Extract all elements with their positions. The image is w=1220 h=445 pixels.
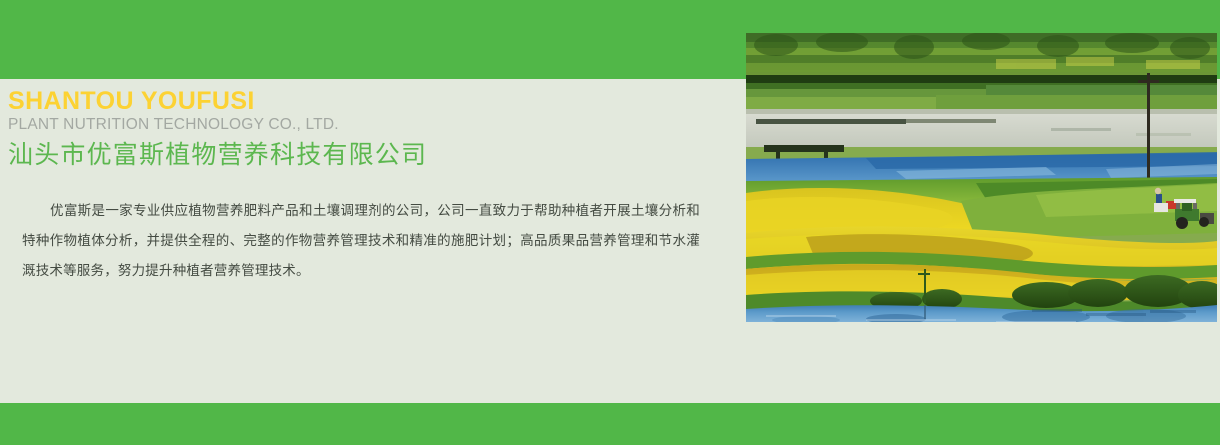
company-description-paragraph: 优富斯是一家专业供应植物营养肥料产品和土壤调理剂的公司，公司一直致力于帮助种植者… — [22, 196, 700, 286]
company-subtitle-english: PLANT NUTRITION TECHNOLOGY CO., LTD. — [8, 116, 708, 133]
company-name-english: SHANTOU YOUFUSI — [8, 88, 708, 114]
farmland-photo — [746, 33, 1217, 322]
company-name-chinese: 汕头市优富斯植物营养科技有限公司 — [8, 140, 708, 170]
bottom-green-band — [0, 403, 1220, 445]
brand-block: SHANTOU YOUFUSI PLANT NUTRITION TECHNOLO… — [8, 88, 708, 170]
farmland-photo-illustration — [746, 33, 1217, 322]
page-root: SHANTOU YOUFUSI PLANT NUTRITION TECHNOLO… — [0, 0, 1220, 445]
